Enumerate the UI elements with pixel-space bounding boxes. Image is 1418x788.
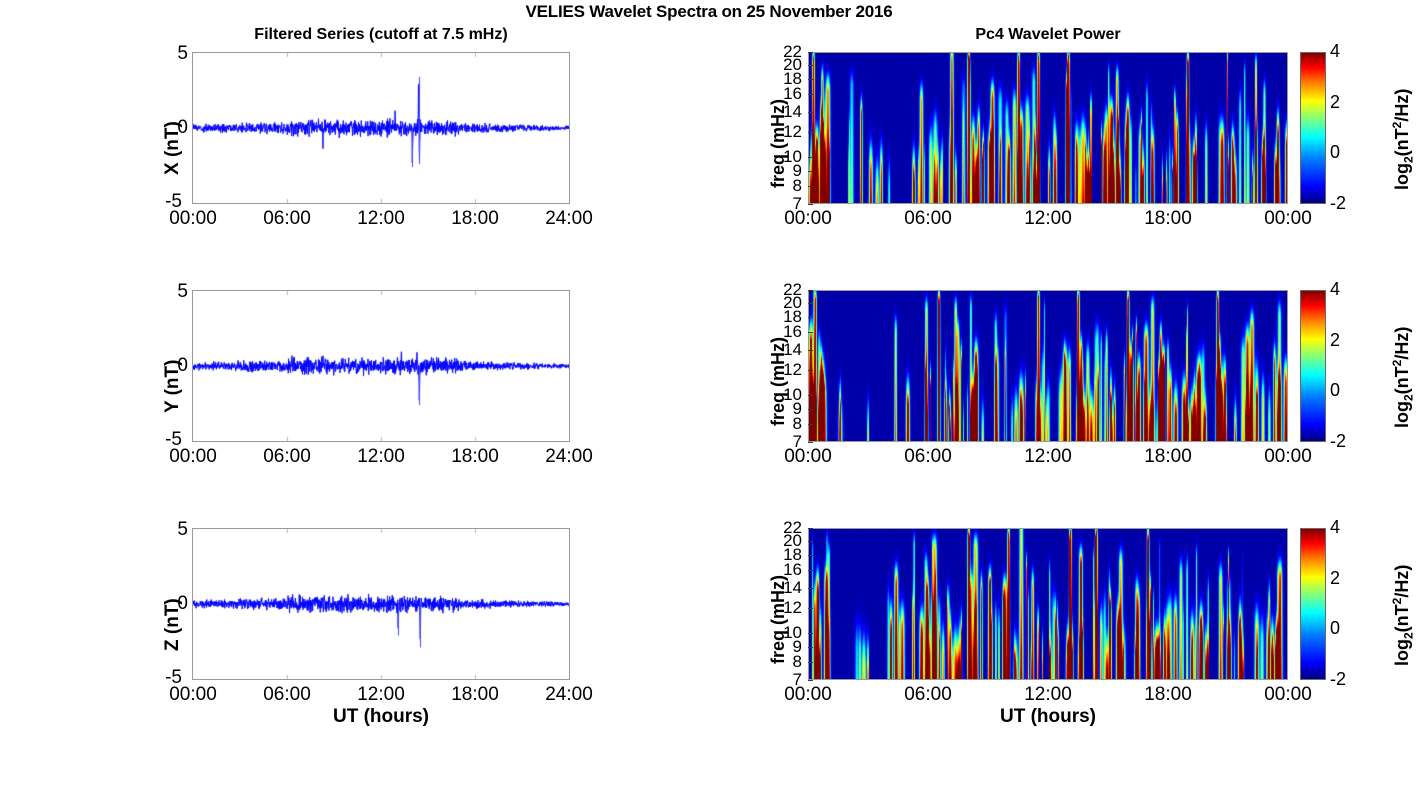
colorbar-tick: 4 bbox=[1330, 279, 1360, 300]
spec-freq-tickmark bbox=[808, 65, 813, 66]
spectrogram-image-x bbox=[809, 53, 1287, 203]
ts-xtick: 06:00 bbox=[242, 208, 332, 230]
spec-freq-tickmark bbox=[808, 132, 813, 133]
timeseries-trace-z bbox=[193, 529, 569, 679]
timeseries-trace-x bbox=[193, 53, 569, 203]
spec-freq-tickmark bbox=[808, 680, 813, 681]
spectrogram-image-z bbox=[809, 529, 1287, 679]
spec-xtick: 00:00 bbox=[763, 208, 853, 230]
spec-freq-tick: 14 bbox=[772, 341, 802, 358]
spec-xtick: 06:00 bbox=[883, 208, 973, 230]
spec-freq-tick: 12 bbox=[772, 361, 802, 378]
cbl-log: log bbox=[1392, 163, 1412, 190]
spec-freq-tickmark bbox=[808, 332, 813, 333]
spec-xtick: 18:00 bbox=[1123, 208, 1213, 230]
spec-xlabel: UT (hours) bbox=[808, 706, 1288, 728]
spec-xtick: 00:00 bbox=[1243, 208, 1333, 230]
colorbar-tick: -2 bbox=[1330, 431, 1360, 452]
cbl-sup: 2 bbox=[1390, 360, 1404, 367]
ts-xtick: 06:00 bbox=[242, 684, 332, 706]
spec-freq-tickmark bbox=[808, 317, 813, 318]
spec-xtick: 00:00 bbox=[1243, 446, 1333, 468]
ts-xtick: 18:00 bbox=[430, 446, 520, 468]
spec-freq-tick: 8 bbox=[772, 653, 802, 670]
cbl-sup: 2 bbox=[1390, 122, 1404, 129]
spec-freq-tickmark bbox=[808, 409, 813, 410]
spec-xtick: 06:00 bbox=[883, 684, 973, 706]
left-column-title: Filtered Series (cutoff at 7.5 mHz) bbox=[192, 26, 570, 44]
spec-freq-tickmark bbox=[808, 633, 813, 634]
colorbar-x bbox=[1300, 52, 1326, 204]
spec-xtick: 18:00 bbox=[1123, 684, 1213, 706]
spec-freq-tickmark bbox=[808, 79, 813, 80]
spec-freq-tickmark bbox=[808, 442, 813, 443]
spec-freq-tickmark bbox=[808, 608, 813, 609]
timeseries-panel-z[interactable] bbox=[192, 528, 570, 680]
spec-xtick: 12:00 bbox=[1003, 208, 1093, 230]
colorbar-tick: 2 bbox=[1330, 92, 1360, 113]
ts-xtick: 00:00 bbox=[148, 446, 238, 468]
cbl-sub: 2 bbox=[1402, 156, 1416, 163]
timeseries-trace-y bbox=[193, 291, 569, 441]
spec-freq-tickmark bbox=[808, 157, 813, 158]
cbl-tail: /Hz) bbox=[1392, 89, 1412, 122]
spec-xtick: 12:00 bbox=[1003, 684, 1093, 706]
ts-xtick: 06:00 bbox=[242, 446, 332, 468]
spec-xtick: 18:00 bbox=[1123, 446, 1213, 468]
cbl-tail: /Hz) bbox=[1392, 565, 1412, 598]
spec-freq-tickmark bbox=[808, 528, 813, 529]
ts-xtick: 00:00 bbox=[148, 208, 238, 230]
colorbar-label-y: log2(nT2/Hz) bbox=[1390, 327, 1416, 428]
ts-xlabel: UT (hours) bbox=[192, 706, 570, 728]
spec-xtick: 00:00 bbox=[1243, 684, 1333, 706]
spec-freq-tick: 14 bbox=[772, 103, 802, 120]
spec-freq-tickmark bbox=[808, 588, 813, 589]
spec-freq-tick: 16 bbox=[772, 85, 802, 102]
spec-freq-tickmark bbox=[808, 424, 813, 425]
spec-freq-tick: 14 bbox=[772, 579, 802, 596]
spectrogram-panel-y[interactable] bbox=[808, 290, 1288, 442]
spec-freq-tickmark bbox=[808, 186, 813, 187]
spec-freq-tickmark bbox=[808, 94, 813, 95]
colorbar-tick: -2 bbox=[1330, 669, 1360, 690]
ts-ytick: 5 bbox=[154, 43, 188, 65]
spec-freq-tickmark bbox=[808, 541, 813, 542]
ts-ytick: 5 bbox=[154, 281, 188, 303]
spec-freq-tick: 16 bbox=[772, 323, 802, 340]
spec-freq-tickmark bbox=[808, 395, 813, 396]
timeseries-panel-x[interactable] bbox=[192, 52, 570, 204]
colorbar-tick: 2 bbox=[1330, 330, 1360, 351]
colorbar-tick: 4 bbox=[1330, 41, 1360, 62]
spec-xtick: 00:00 bbox=[763, 446, 853, 468]
ts-xtick: 12:00 bbox=[336, 208, 426, 230]
ts-xtick: 12:00 bbox=[336, 446, 426, 468]
right-column-title: Pc4 Wavelet Power bbox=[808, 26, 1288, 44]
spec-freq-tick: 8 bbox=[772, 177, 802, 194]
ts-ytick: 0 bbox=[154, 355, 188, 377]
spec-xtick: 12:00 bbox=[1003, 446, 1093, 468]
spectrogram-image-y bbox=[809, 291, 1287, 441]
cbl-rest: (nT bbox=[1392, 366, 1412, 394]
colorbar-tick: -2 bbox=[1330, 193, 1360, 214]
spec-freq-tickmark bbox=[808, 555, 813, 556]
spec-freq-tickmark bbox=[808, 370, 813, 371]
spec-freq-tickmark bbox=[808, 570, 813, 571]
spec-freq-tickmark bbox=[808, 647, 813, 648]
cbl-sub: 2 bbox=[1402, 394, 1416, 401]
colorbar-tick: 4 bbox=[1330, 517, 1360, 538]
figure-suptitle: VELIES Wavelet Spectra on 25 November 20… bbox=[0, 2, 1418, 22]
colorbar-tick: 0 bbox=[1330, 618, 1360, 639]
ts-xtick: 18:00 bbox=[430, 684, 520, 706]
ts-xtick: 12:00 bbox=[336, 684, 426, 706]
ts-xtick: 24:00 bbox=[524, 446, 614, 468]
ts-xtick: 24:00 bbox=[524, 684, 614, 706]
spec-freq-tickmark bbox=[808, 303, 813, 304]
cbl-sup: 2 bbox=[1390, 598, 1404, 605]
spec-xtick: 00:00 bbox=[763, 684, 853, 706]
colorbar-tick: 2 bbox=[1330, 568, 1360, 589]
spec-freq-tickmark bbox=[808, 662, 813, 663]
colorbar-tick: 0 bbox=[1330, 380, 1360, 401]
spectrogram-panel-x[interactable] bbox=[808, 52, 1288, 204]
cbl-rest: (nT bbox=[1392, 128, 1412, 156]
cbl-rest: (nT bbox=[1392, 604, 1412, 632]
spec-freq-tickmark bbox=[808, 171, 813, 172]
ts-ytick: 0 bbox=[154, 117, 188, 139]
spec-freq-tickmark bbox=[808, 112, 813, 113]
timeseries-panel-y[interactable] bbox=[192, 290, 570, 442]
spec-freq-tick: 8 bbox=[772, 415, 802, 432]
ts-ytick: 0 bbox=[154, 593, 188, 615]
colorbar-z bbox=[1300, 528, 1326, 680]
colorbar-tick: 0 bbox=[1330, 142, 1360, 163]
figure-canvas: VELIES Wavelet Spectra on 25 November 20… bbox=[0, 0, 1418, 788]
ts-xtick: 18:00 bbox=[430, 208, 520, 230]
colorbar-y bbox=[1300, 290, 1326, 442]
ts-xtick: 24:00 bbox=[524, 208, 614, 230]
spectrogram-panel-z[interactable] bbox=[808, 528, 1288, 680]
spec-freq-tickmark bbox=[808, 350, 813, 351]
cbl-tail: /Hz) bbox=[1392, 327, 1412, 360]
ts-ytick: 5 bbox=[154, 519, 188, 541]
cbl-log: log bbox=[1392, 401, 1412, 428]
spec-freq-tickmark bbox=[808, 52, 813, 53]
cbl-sub: 2 bbox=[1402, 632, 1416, 639]
spec-freq-tick: 12 bbox=[772, 123, 802, 140]
spec-freq-tick: 12 bbox=[772, 599, 802, 616]
spec-freq-tickmark bbox=[808, 204, 813, 205]
colorbar-label-x: log2(nT2/Hz) bbox=[1390, 89, 1416, 190]
cbl-log: log bbox=[1392, 639, 1412, 666]
spec-freq-tickmark bbox=[808, 290, 813, 291]
spec-freq-tick: 16 bbox=[772, 561, 802, 578]
colorbar-label-z: log2(nT2/Hz) bbox=[1390, 565, 1416, 666]
spec-xtick: 06:00 bbox=[883, 446, 973, 468]
ts-xtick: 00:00 bbox=[148, 684, 238, 706]
